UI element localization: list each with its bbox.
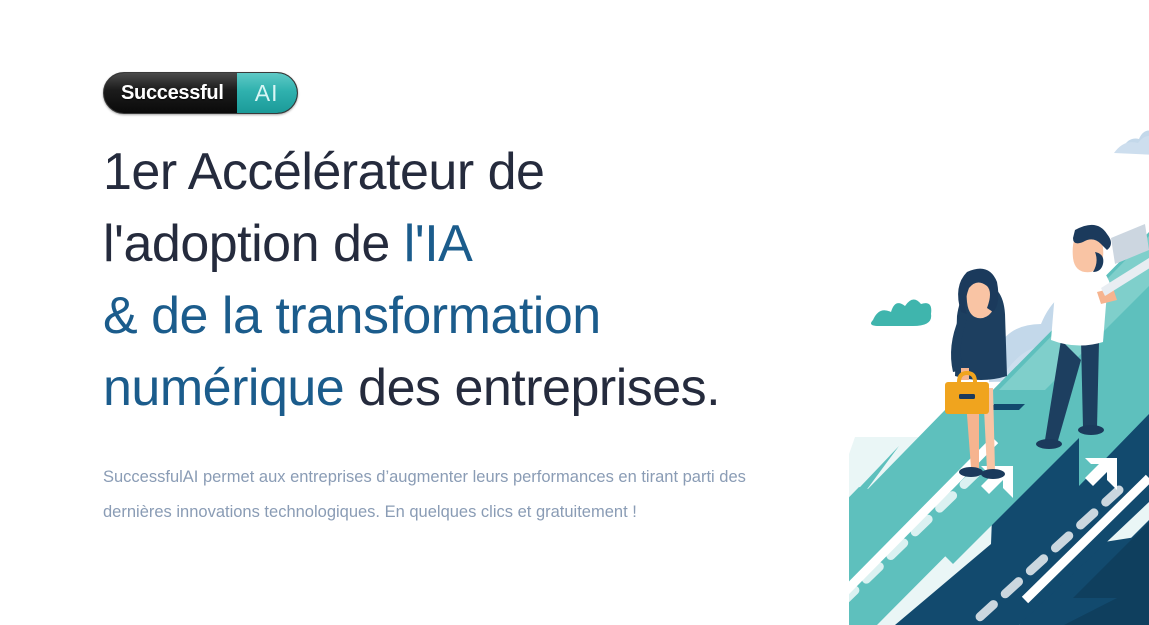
woman-shoe-back xyxy=(959,467,983,477)
logo-badge-teal: AI xyxy=(237,73,297,113)
headline-line-4-accent: numérique xyxy=(103,359,344,417)
man-shoe-back xyxy=(1036,439,1062,449)
woman-shoe-front xyxy=(981,469,1005,479)
bush-teal-icon xyxy=(871,299,931,326)
logo-wordmark-dark: Successful xyxy=(104,73,237,113)
hero-content: Successful AI 1er Accélérateur del'adopt… xyxy=(103,72,833,530)
hero-description: SuccessfulAI permet aux entreprises d’au… xyxy=(103,460,803,530)
man-leg-front xyxy=(1081,340,1099,428)
man-shoe-front xyxy=(1078,425,1104,435)
hero-section: Successful AI 1er Accélérateur del'adopt… xyxy=(0,0,1149,625)
page-title: 1er Accélérateur del'adoption de l'IA& d… xyxy=(103,136,833,424)
brand-logo[interactable]: Successful AI xyxy=(103,72,298,114)
logo-text-ai: AI xyxy=(255,82,279,105)
headline-line-2-accent: l'IA xyxy=(404,215,473,273)
logo-text-successful: Successful xyxy=(121,83,224,103)
cloud-top-right-shape xyxy=(1114,136,1149,155)
growth-arrows-illustration xyxy=(849,0,1149,625)
headline-line-3-accent: & de la transformation xyxy=(103,287,601,345)
headline-line-4-plain: des entreprises. xyxy=(344,359,720,417)
headline-line-1: 1er Accélérateur de xyxy=(103,143,544,201)
briefcase-latch xyxy=(959,394,975,399)
headline-line-2-plain: l'adoption de xyxy=(103,215,404,273)
